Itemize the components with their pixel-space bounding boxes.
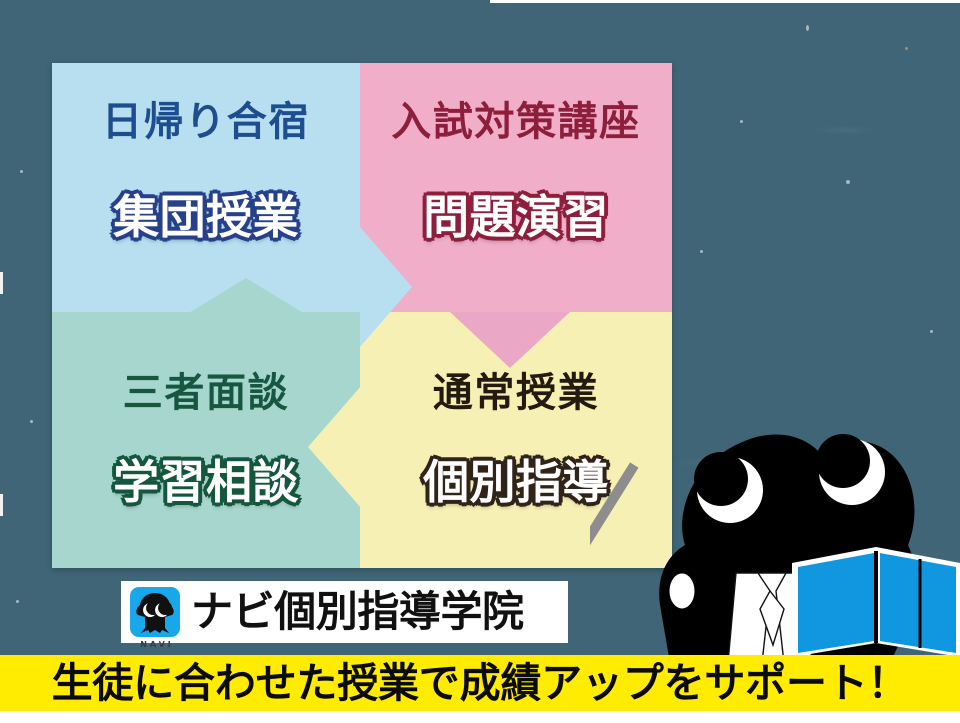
tagline-banner: 生徒に合わせた授業で成績アップをサポート！ bbox=[0, 655, 960, 711]
pointer-stick-icon bbox=[590, 462, 639, 654]
navi-mark-caption: NAVI bbox=[131, 640, 183, 649]
left-edge-artifact bbox=[0, 272, 3, 294]
quadrant-title-three-party-meeting: 三者面談 bbox=[52, 360, 360, 418]
chalk-speck bbox=[16, 600, 19, 603]
tagline-text: 生徒に合わせた授業で成績アップをサポート！ bbox=[52, 663, 909, 704]
chalk-speck bbox=[700, 250, 703, 253]
chalk-speck bbox=[806, 25, 809, 31]
chalk-speck bbox=[20, 170, 23, 173]
quadrant-day-camp[interactable]: 日帰り合宿 集団授業 bbox=[52, 63, 360, 312]
quadrant-badge-three-party-meeting: 学習相談 bbox=[52, 446, 360, 512]
slide-canvas: 日帰り合宿 集団授業 入試対策講座 問題演習 三者面談 学習相談 通常授業 個別… bbox=[0, 0, 960, 723]
open-book-icon bbox=[792, 547, 960, 657]
mascot-hand bbox=[668, 572, 696, 610]
service-quadrant-panel: 日帰り合宿 集団授業 入試対策講座 問題演習 三者面談 学習相談 通常授業 個別… bbox=[52, 63, 672, 568]
mascot-illustration bbox=[590, 395, 960, 663]
chalk-speck bbox=[30, 420, 33, 423]
chalk-speck bbox=[740, 120, 743, 123]
left-edge-artifact bbox=[0, 494, 3, 516]
quadrant-title-exam-prep-course: 入試対策講座 bbox=[360, 89, 672, 147]
chalk-speck bbox=[846, 180, 850, 184]
brand-name: ナビ個別指導学院 bbox=[191, 591, 524, 633]
chalk-speck bbox=[930, 330, 933, 333]
quadrant-three-party-meeting[interactable]: 三者面談 学習相談 bbox=[52, 312, 360, 568]
chalk-speck bbox=[905, 47, 908, 50]
bottom-white-strip bbox=[0, 711, 960, 723]
brand-logo-bar[interactable]: NAVI ナビ個別指導学院 bbox=[121, 581, 568, 643]
navi-mark-icon: NAVI bbox=[129, 586, 181, 638]
quadrant-badge-day-camp: 集団授業 bbox=[52, 181, 360, 247]
quadrant-title-day-camp: 日帰り合宿 bbox=[52, 89, 360, 147]
quadrant-exam-prep-course[interactable]: 入試対策講座 問題演習 bbox=[360, 63, 672, 312]
quadrant-badge-exam-prep-course: 問題演習 bbox=[360, 181, 672, 247]
top-edge-artifact bbox=[490, 0, 960, 3]
